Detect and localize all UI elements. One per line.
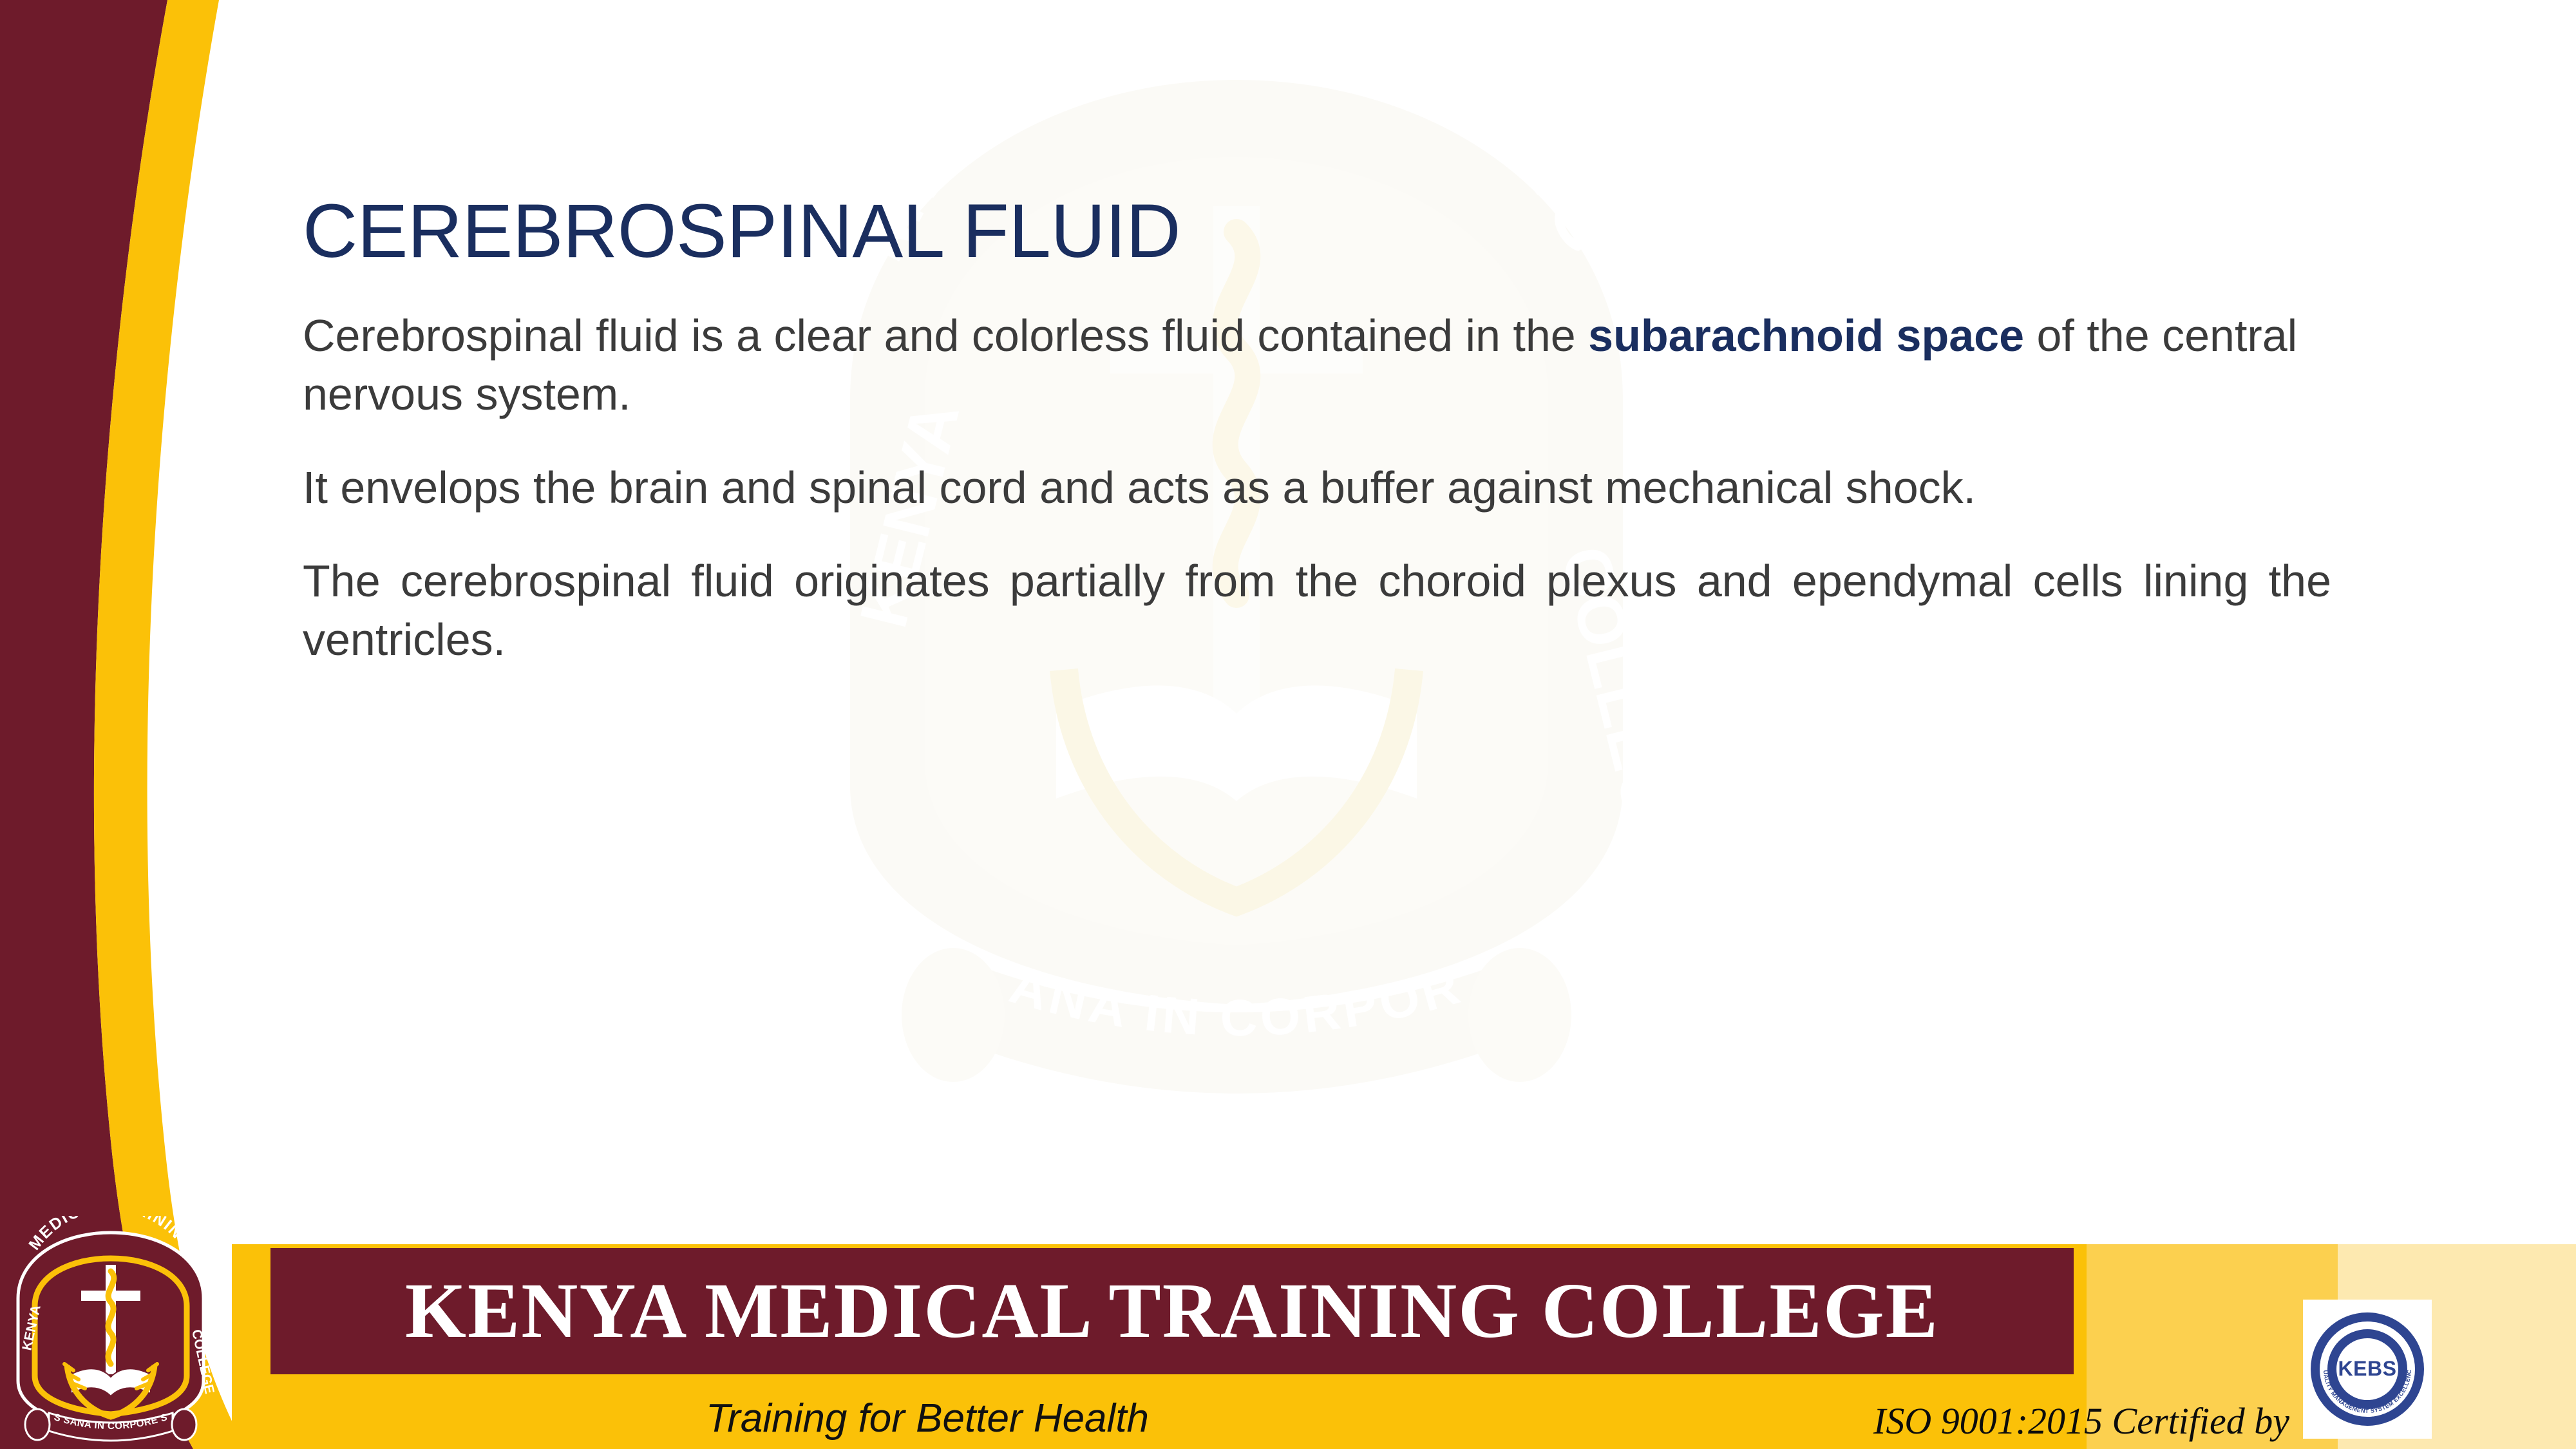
crest-serpent-rod <box>108 1271 114 1364</box>
slide-canvas: MEDICAL TRAINING KENYA COLLEGE MENS SANA… <box>0 0 2576 1449</box>
slide-footer: KENYA MEDICAL TRAINING COLLEGE Training … <box>0 1217 2576 1449</box>
watermark-scroll-left <box>902 948 1005 1082</box>
paragraph-1-highlight: subarachnoid space <box>1588 310 2024 361</box>
paragraph-1-before: Cerebrospinal fluid is a clear and color… <box>303 310 1588 361</box>
crest-scroll-left <box>25 1409 50 1440</box>
paragraph-3: The cerebrospinal fluid originates parti… <box>303 552 2331 728</box>
slide-content: CEREBROSPINAL FLUID Cerebrospinal fluid … <box>303 193 2331 762</box>
watermark-ribbon <box>987 969 1486 1094</box>
page-title: CEREBROSPINAL FLUID <box>303 193 2331 269</box>
paragraph-1: Cerebrospinal fluid is a clear and color… <box>303 307 2331 424</box>
kmtc-crest-logo: MEDICAL TRAINING KENYA COLLEGE MENS SANA… <box>0 1216 227 1448</box>
institution-name: KENYA MEDICAL TRAINING COLLEGE <box>270 1248 2074 1374</box>
iso-certification-text: ISO 9001:2015 Certified by <box>1873 1399 2289 1443</box>
crest-scroll-right <box>172 1409 196 1440</box>
paragraph-2: It envelops the brain and spinal cord an… <box>303 459 2331 517</box>
footer-tagline: Training for Better Health <box>0 1396 1855 1441</box>
kebs-certification-logo: ISO 9001 REGISTERED FIRM QUALITY MANAGEM… <box>2303 1300 2432 1439</box>
kebs-center-text: KEBS <box>2338 1357 2397 1380</box>
watermark-scroll-right <box>1468 948 1571 1082</box>
